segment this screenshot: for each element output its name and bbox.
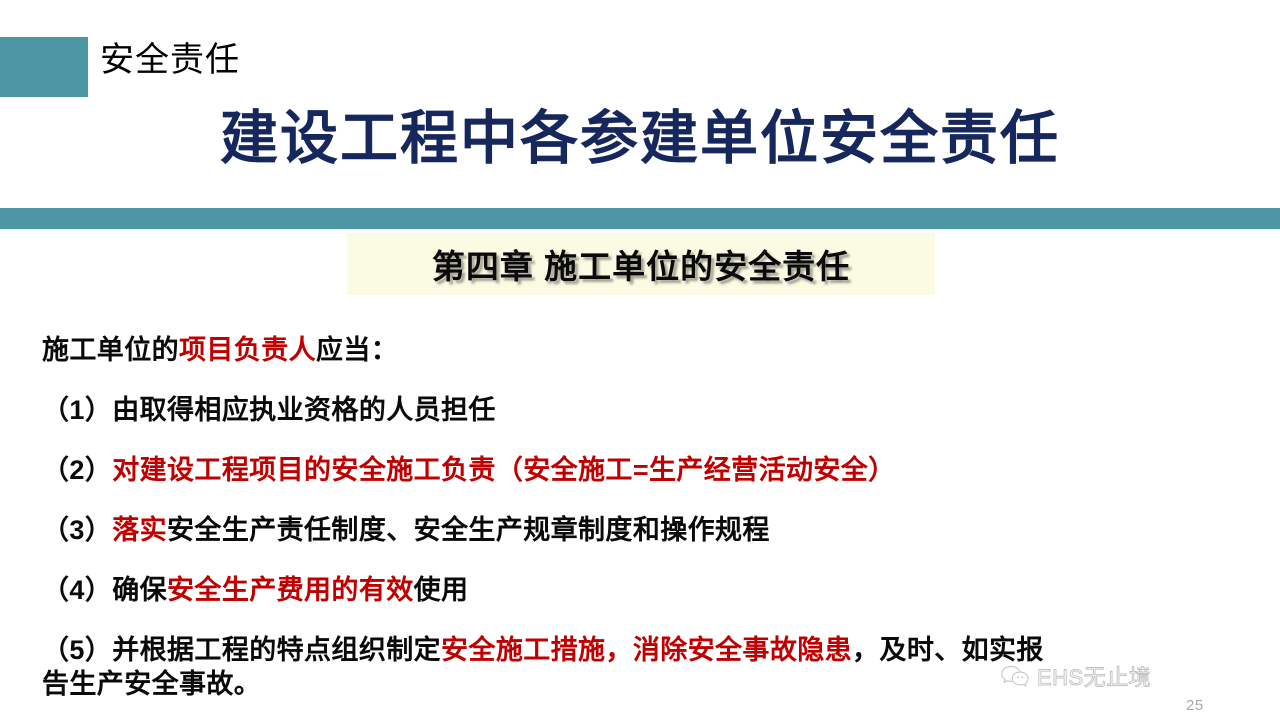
slide-kicker: 安全责任 — [100, 40, 240, 81]
body-intro-part-1: 施工单位的 — [42, 335, 179, 365]
list-item-text-highlight: 落实 — [112, 515, 167, 545]
list-item-text: 对建设工程项目的安全施工负责（安全施工=生产经营活动安全） — [112, 455, 895, 485]
list-item-number: （3） — [42, 515, 112, 545]
list-item-text: 确保 — [112, 575, 167, 605]
header-accent-square — [0, 37, 88, 97]
list-item-text: 由取得相应执业资格的人员担任 — [112, 395, 496, 425]
slide-title: 建设工程中各参建单位安全责任 — [0, 104, 1280, 175]
body-intro-line: 施工单位的项目负责人应当： — [42, 320, 1242, 380]
list-item-number: （2） — [42, 455, 112, 485]
header-divider-rule — [0, 208, 1280, 229]
list-item-text: 安全生产责任制度、安全生产规章制度和操作规程 — [167, 515, 770, 545]
page-number: 25 — [1186, 697, 1204, 714]
wechat-speech-bubble-icon — [1000, 663, 1030, 689]
list-item-number: （1） — [42, 395, 112, 425]
chapter-banner-text: 第四章 施工单位的安全责任 — [432, 240, 850, 288]
watermark-text: EHS无止境 — [1037, 660, 1151, 692]
body-intro-highlight: 项目负责人 — [179, 335, 316, 365]
list-item-text-highlight: 安全施工措施，消除安全事故隐患 — [441, 635, 852, 665]
chapter-banner: 第四章 施工单位的安全责任 — [347, 233, 935, 295]
body-list-item-4: （4）确保安全生产费用的有效使用 — [42, 560, 1242, 620]
body-list-item-3: （3）落实安全生产责任制度、安全生产规章制度和操作规程 — [42, 500, 1242, 560]
list-item-text-suffix: 使用 — [414, 575, 469, 605]
body-list-item-1: （1）由取得相应执业资格的人员担任 — [42, 380, 1242, 440]
body-intro-part-3: 应当： — [316, 335, 398, 365]
body-tail-line: 告生产安全事故。 — [42, 662, 261, 701]
presentation-slide: 安全责任 建设工程中各参建单位安全责任 第四章 施工单位的安全责任 施工单位的项… — [0, 0, 1280, 720]
list-item-text: 并根据工程的特点组织制定 — [112, 635, 441, 665]
list-item-text-highlight: 安全生产费用的有效 — [167, 575, 414, 605]
body-list-item-2: （2）对建设工程项目的安全施工负责（安全施工=生产经营活动安全） — [42, 440, 1242, 500]
list-item-number: （4） — [42, 575, 112, 605]
list-item-number: （5） — [42, 635, 112, 665]
body-content: 施工单位的项目负责人应当： （1）由取得相应执业资格的人员担任 （2）对建设工程… — [42, 320, 1242, 680]
watermark: EHS无止境 — [1000, 660, 1151, 692]
